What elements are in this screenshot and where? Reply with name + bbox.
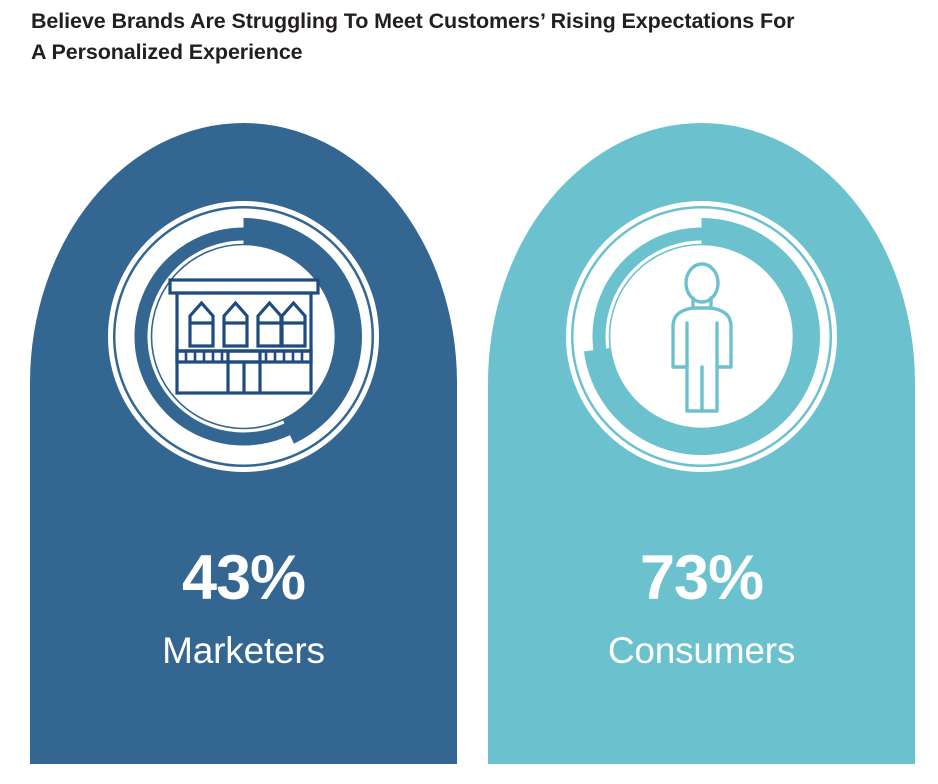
- percent-value-marketers: 43%: [30, 547, 457, 610]
- panels-row: 43% Marketers: [0, 123, 938, 764]
- donut-gauge-consumers: [488, 123, 915, 550]
- percent-value-consumers: 73%: [488, 547, 915, 610]
- stat-label-marketers: Marketers: [30, 632, 457, 671]
- infographic-root: Believe Brands Are Struggling To Meet Cu…: [0, 0, 938, 784]
- page-title: Believe Brands Are Struggling To Meet Cu…: [31, 6, 921, 68]
- panel-marketers: 43% Marketers: [30, 123, 457, 764]
- stats-marketers: 43% Marketers: [30, 547, 457, 671]
- stats-consumers: 73% Consumers: [488, 547, 915, 671]
- donut-chart-marketers: [30, 123, 457, 550]
- donut-gauge-marketers: [30, 123, 457, 550]
- panel-consumers: 73% Consumers: [488, 123, 915, 764]
- donut-chart-consumers: [488, 123, 915, 550]
- stat-label-consumers: Consumers: [488, 632, 915, 671]
